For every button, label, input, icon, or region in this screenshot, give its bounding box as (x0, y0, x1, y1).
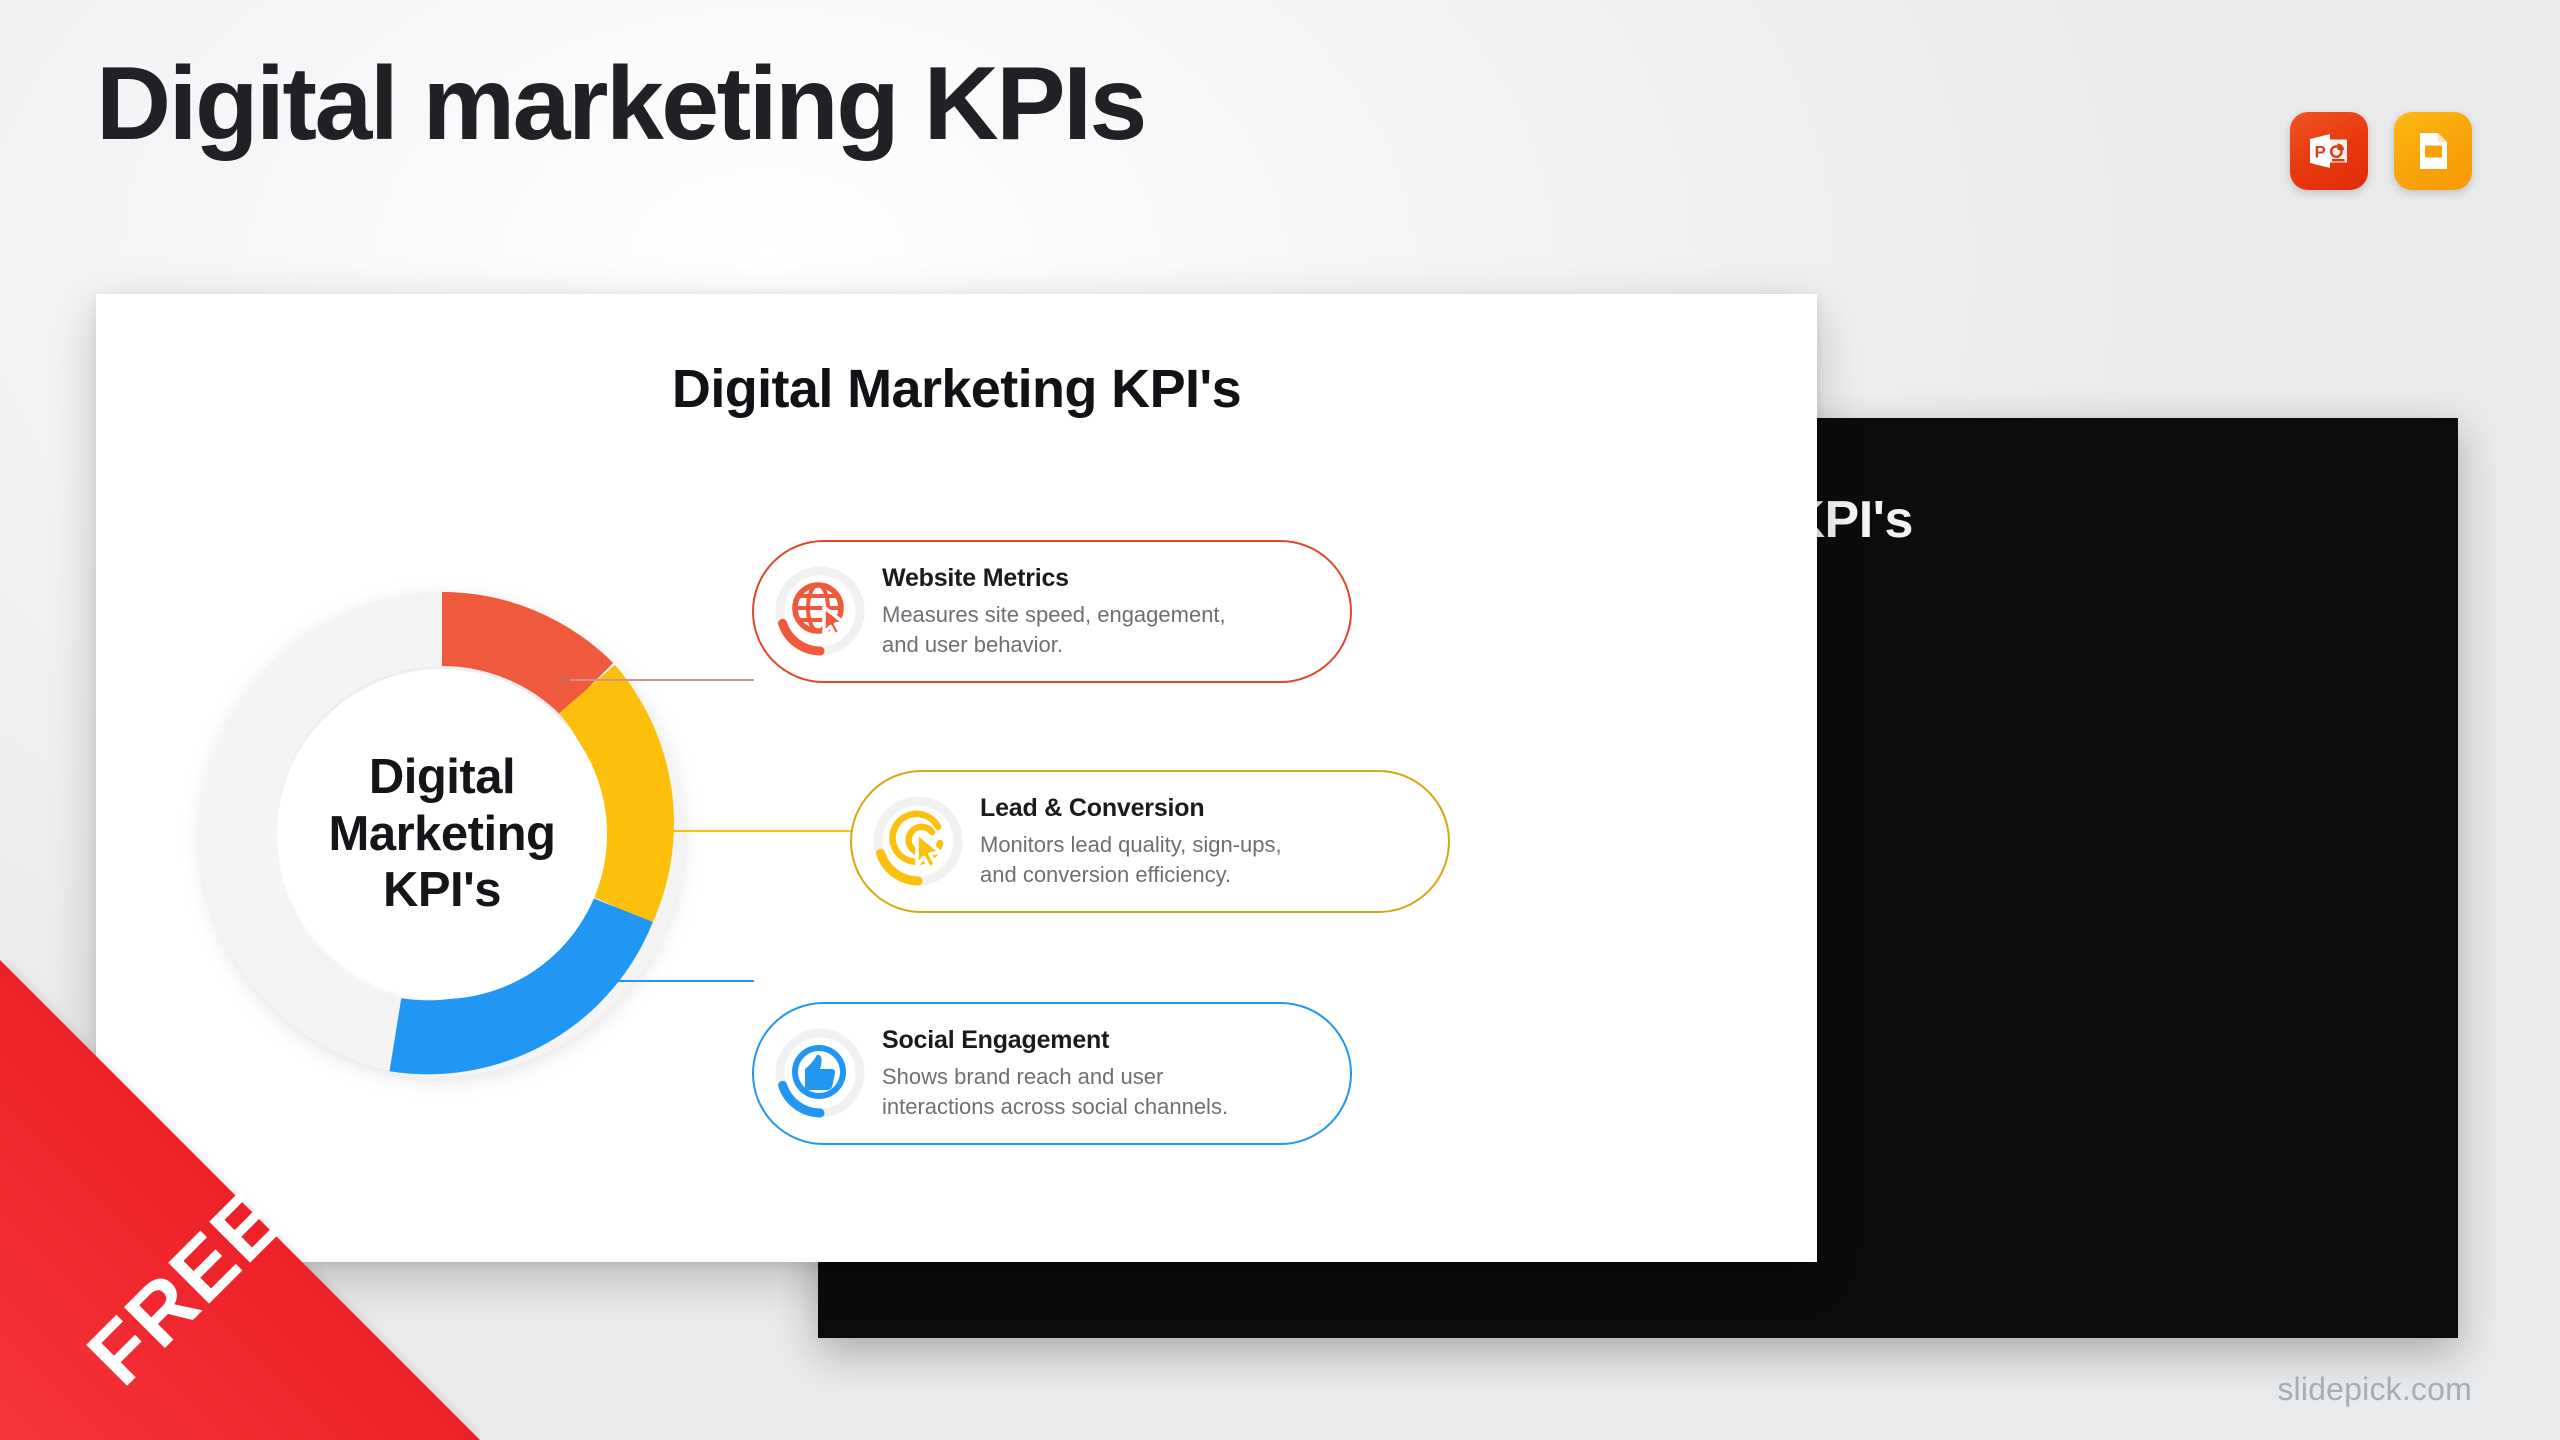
light-slide-title: Digital Marketing KPI's (672, 358, 1241, 420)
slide-preview-stage: Digital Marketing KPI's (0, 0, 2560, 1440)
connector-line-social-engagement (564, 980, 754, 982)
connector-dot (559, 675, 570, 686)
connector-dot (631, 826, 642, 837)
kpi-description: Shows brand reach and user interactions … (882, 1062, 1316, 1123)
kpi-card-lead-conversion[interactable]: Lead & Conversion Monitors lead quality,… (850, 770, 1450, 913)
kpi-description: Monitors lead quality, sign-ups, and con… (980, 830, 1414, 891)
kpi-title: Social Engagement (882, 1026, 1316, 1055)
thumbs-up-icon (772, 1025, 868, 1121)
site-watermark: slidepick.com (2277, 1371, 2472, 1408)
donut-center-label: Digital Marketing KPI's (329, 749, 556, 919)
kpi-description: Measures site speed, engagement, and use… (882, 600, 1316, 661)
kpi-title: Website Metrics (882, 564, 1316, 593)
slide-preview-light[interactable]: Digital Marketing KPI's (96, 294, 1817, 1262)
connector-dot (559, 976, 570, 987)
kpi-card-social-engagement[interactable]: Social Engagement Shows brand reach and … (752, 1002, 1352, 1145)
target-cursor-icon (870, 793, 966, 889)
kpi-card-website-metrics[interactable]: Website Metrics Measures site speed, eng… (752, 540, 1352, 683)
kpi-title: Lead & Conversion (980, 794, 1414, 823)
connector-line-website-metrics (564, 679, 754, 681)
connector-line-lead-conversion (636, 830, 852, 832)
globe-cursor-icon (772, 563, 868, 659)
